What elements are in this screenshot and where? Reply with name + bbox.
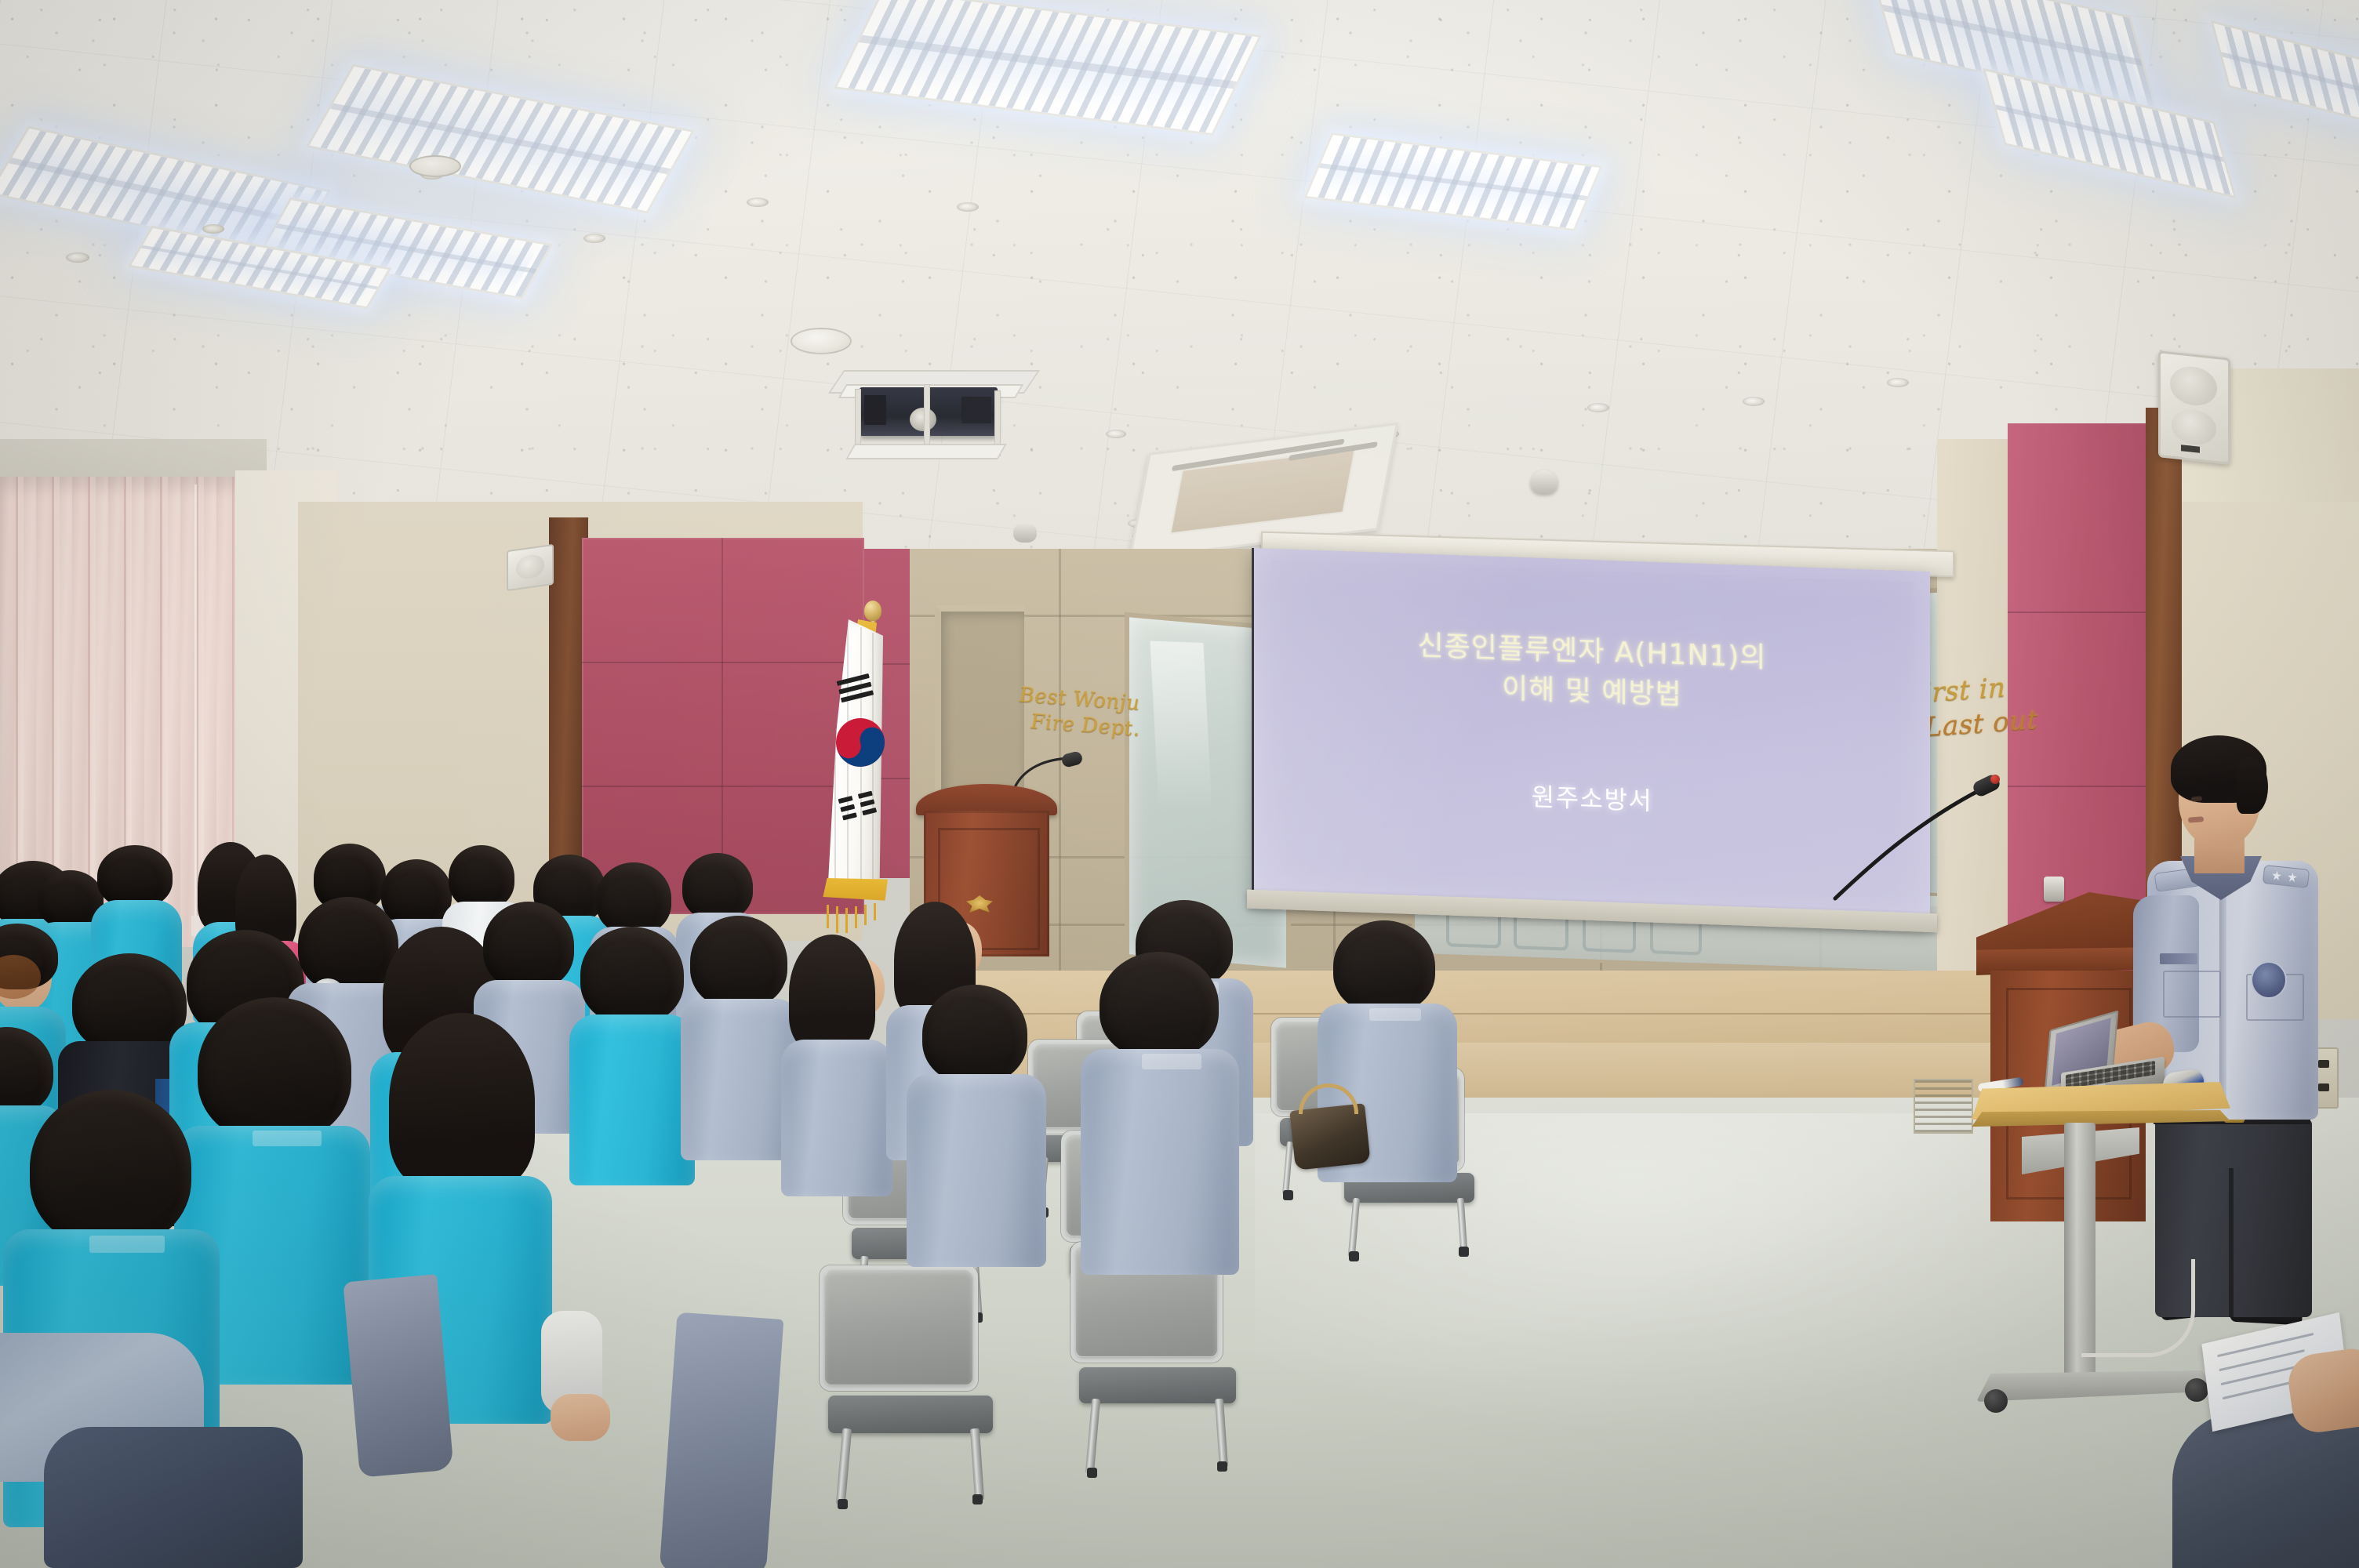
- folding-chair[interactable]: [1076, 1247, 1233, 1474]
- wall-sign-left: Best Wonju Fire Dept.: [1019, 683, 1140, 742]
- presenter-shirt-pocket: [2163, 971, 2221, 1018]
- ceiling-downlight: [957, 202, 979, 212]
- draped-jacket: [343, 1274, 453, 1478]
- ceiling-downlight: [1587, 403, 1609, 412]
- podium-microphone-icon: [1829, 776, 2001, 902]
- hand: [551, 1394, 610, 1441]
- ceiling-downlight: [202, 224, 224, 234]
- laptop[interactable]: [2047, 1021, 2165, 1093]
- flag-fringe: [820, 878, 888, 909]
- ceiling-speaker-icon: [409, 155, 461, 177]
- foreground-person-right: [2172, 1317, 2359, 1568]
- ceiling-downlight: [1887, 378, 1909, 387]
- ceiling-projector: [836, 370, 1029, 472]
- foreground-knee: [2172, 1411, 2359, 1568]
- ceiling-downlight: [747, 198, 769, 207]
- wall-speaker-icon: [507, 544, 554, 591]
- ceiling-downlight: [583, 234, 605, 243]
- foreground-person-left: [0, 1333, 298, 1568]
- ceiling-camera-icon: [1531, 470, 1558, 494]
- ceiling-downlight: [1743, 397, 1765, 406]
- ceiling-downlight: [66, 252, 89, 263]
- flag-finial: [864, 601, 881, 621]
- ceiling-downlight: [1106, 430, 1126, 438]
- lectern-microphone-icon: [1010, 754, 1079, 789]
- presenter-name-tag: [2160, 953, 2197, 964]
- floor-vent: [1914, 1079, 1973, 1134]
- ceiling-speaker-icon: [791, 328, 852, 354]
- presenter-unit-badge-icon: [2251, 961, 2287, 999]
- wall-speaker-icon: [2158, 350, 2230, 465]
- ceiling-camera-icon: [1013, 522, 1037, 543]
- auditorium-photo: Best Wonju Fire Dept. First in Last out …: [0, 0, 2359, 1568]
- presentation-remote[interactable]: [2044, 877, 2064, 902]
- folding-chair[interactable]: [825, 1270, 990, 1505]
- cart-caster: [1984, 1389, 2008, 1413]
- draped-jacket: [660, 1312, 784, 1568]
